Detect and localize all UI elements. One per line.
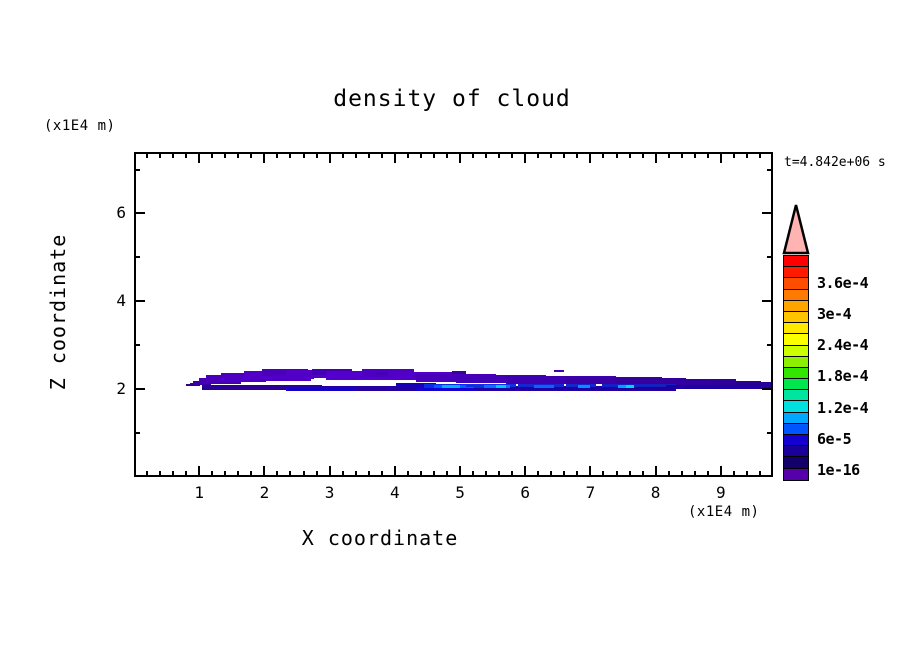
x-major-tick <box>655 466 657 477</box>
colorbar-arrow-cap <box>781 203 811 255</box>
x-tick-label: 5 <box>440 483 480 502</box>
cloud-filament <box>286 388 356 391</box>
x-major-tick <box>720 466 722 477</box>
y-minor-tick-right <box>767 344 773 346</box>
x-minor-tick-top <box>342 152 344 158</box>
x-minor-tick-top <box>759 152 761 158</box>
x-tick-label: 1 <box>179 483 219 502</box>
y-minor-tick-right <box>767 432 773 434</box>
x-minor-tick-top <box>746 152 748 158</box>
x-minor-tick-top <box>642 152 644 158</box>
x-axis-unit-label: (x1E4 m) <box>688 504 759 520</box>
x-tick-label: 9 <box>701 483 741 502</box>
cloud-filament <box>442 385 460 388</box>
x-minor-tick-top <box>303 152 305 158</box>
x-major-tick-top <box>198 152 200 163</box>
x-minor-tick-top <box>159 152 161 158</box>
colorbar-band <box>784 357 808 368</box>
colorbar-tick-label: 2.4e-4 <box>817 336 868 354</box>
cloud-filament <box>496 385 506 388</box>
x-minor-tick-top <box>602 152 604 158</box>
colorbar-band <box>784 256 808 267</box>
x-minor-tick-top <box>237 152 239 158</box>
time-annotation: t=4.842e+06 s <box>784 155 886 170</box>
x-minor-tick-top <box>185 152 187 158</box>
colorbar-bands <box>783 255 809 481</box>
y-minor-tick <box>134 344 140 346</box>
cloud-filament <box>416 388 476 391</box>
x-major-tick <box>459 466 461 477</box>
x-minor-tick-top <box>250 152 252 158</box>
x-major-tick-top <box>720 152 722 163</box>
x-minor-tick-top <box>668 152 670 158</box>
cloud-filament <box>578 385 590 388</box>
x-minor-tick <box>563 471 565 477</box>
colorbar-band <box>784 424 808 435</box>
x-minor-tick <box>485 471 487 477</box>
x-minor-tick-top <box>511 152 513 158</box>
x-minor-tick <box>446 471 448 477</box>
x-major-tick <box>589 466 591 477</box>
colorbar: 3.6e-43e-42.4e-41.8e-41.2e-46e-51e-16 <box>781 203 811 481</box>
colorbar-tick-label: 3e-4 <box>817 305 851 323</box>
x-minor-tick <box>759 471 761 477</box>
y-tick-label: 4 <box>86 291 126 310</box>
x-tick-label: 3 <box>310 483 350 502</box>
x-minor-tick <box>537 471 539 477</box>
x-tick-label: 4 <box>375 483 415 502</box>
x-tick-label: 2 <box>244 483 284 502</box>
x-minor-tick <box>250 471 252 477</box>
colorbar-band <box>784 413 808 424</box>
x-tick-label: 8 <box>636 483 676 502</box>
x-minor-tick <box>733 471 735 477</box>
colorbar-band <box>784 368 808 379</box>
colorbar-tick-label: 3.6e-4 <box>817 274 868 292</box>
x-minor-tick <box>407 471 409 477</box>
colorbar-band <box>784 435 808 446</box>
cloud-filament <box>761 383 771 387</box>
x-minor-tick-top <box>616 152 618 158</box>
x-minor-tick <box>746 471 748 477</box>
x-minor-tick-top <box>629 152 631 158</box>
colorbar-band <box>784 290 808 301</box>
page-title: density of cloud <box>0 86 904 112</box>
x-major-tick-top <box>589 152 591 163</box>
x-minor-tick <box>368 471 370 477</box>
y-minor-tick-right <box>767 256 773 258</box>
x-minor-tick <box>629 471 631 477</box>
x-tick-label: 6 <box>505 483 545 502</box>
colorbar-band <box>784 312 808 323</box>
x-minor-tick <box>642 471 644 477</box>
y-major-tick-right <box>762 212 773 214</box>
y-major-tick-right <box>762 300 773 302</box>
x-minor-tick-top <box>446 152 448 158</box>
x-minor-tick <box>185 471 187 477</box>
x-minor-tick <box>289 471 291 477</box>
x-minor-tick <box>211 471 213 477</box>
y-minor-tick <box>134 169 140 171</box>
x-minor-tick <box>172 471 174 477</box>
y-tick-label: 2 <box>86 379 126 398</box>
cloud-filament <box>554 370 564 372</box>
x-minor-tick <box>433 471 435 477</box>
x-major-tick-top <box>524 152 526 163</box>
x-minor-tick-top <box>537 152 539 158</box>
cloud-filament <box>534 385 554 388</box>
x-minor-tick-top <box>146 152 148 158</box>
x-minor-tick-top <box>381 152 383 158</box>
x-minor-tick-top <box>289 152 291 158</box>
x-minor-tick-top <box>276 152 278 158</box>
x-minor-tick-top <box>576 152 578 158</box>
x-minor-tick <box>355 471 357 477</box>
x-minor-tick <box>550 471 552 477</box>
x-major-tick-top <box>329 152 331 163</box>
colorbar-band <box>784 301 808 312</box>
colorbar-tick-label: 1.8e-4 <box>817 367 868 385</box>
x-minor-tick-top <box>211 152 213 158</box>
x-major-tick <box>524 466 526 477</box>
y-major-tick <box>134 388 145 390</box>
colorbar-band <box>784 267 808 278</box>
y-major-tick-right <box>762 388 773 390</box>
y-major-tick <box>134 212 145 214</box>
x-minor-tick <box>472 471 474 477</box>
plot-canvas <box>136 154 771 475</box>
x-minor-tick-top <box>485 152 487 158</box>
x-minor-tick <box>602 471 604 477</box>
x-minor-tick <box>681 471 683 477</box>
x-minor-tick <box>707 471 709 477</box>
x-minor-tick <box>576 471 578 477</box>
x-minor-tick-top <box>498 152 500 158</box>
x-minor-tick-top <box>433 152 435 158</box>
x-major-tick-top <box>263 152 265 163</box>
x-tick-label: 7 <box>570 483 610 502</box>
colorbar-band <box>784 469 808 480</box>
x-minor-tick-top <box>733 152 735 158</box>
colorbar-band <box>784 379 808 390</box>
x-minor-tick <box>224 471 226 477</box>
x-minor-tick <box>381 471 383 477</box>
x-major-tick <box>198 466 200 477</box>
cloud-filament <box>376 372 388 375</box>
x-minor-tick-top <box>707 152 709 158</box>
x-major-tick <box>394 466 396 477</box>
x-minor-tick <box>276 471 278 477</box>
x-minor-tick <box>159 471 161 477</box>
x-minor-tick <box>146 471 148 477</box>
x-minor-tick <box>668 471 670 477</box>
x-minor-tick <box>616 471 618 477</box>
colorbar-tick-label: 1e-16 <box>817 461 860 479</box>
y-axis-unit-label: (x1E4 m) <box>44 118 115 134</box>
colorbar-band <box>784 323 808 334</box>
x-minor-tick <box>420 471 422 477</box>
colorbar-band <box>784 346 808 357</box>
x-minor-tick-top <box>420 152 422 158</box>
colorbar-band <box>784 446 808 457</box>
x-minor-tick <box>237 471 239 477</box>
colorbar-band <box>784 390 808 401</box>
y-minor-tick <box>134 432 140 434</box>
cloud-filament <box>626 385 634 388</box>
y-major-tick <box>134 300 145 302</box>
x-major-tick-top <box>655 152 657 163</box>
cloud-filament <box>186 384 194 386</box>
x-major-tick <box>263 466 265 477</box>
x-major-tick <box>329 466 331 477</box>
x-minor-tick-top <box>407 152 409 158</box>
y-axis-title: Z coordinate <box>46 232 70 392</box>
x-minor-tick <box>316 471 318 477</box>
y-minor-tick-right <box>767 169 773 171</box>
colorbar-tick-label: 1.2e-4 <box>817 399 868 417</box>
x-minor-tick-top <box>563 152 565 158</box>
x-minor-tick <box>303 471 305 477</box>
x-minor-tick-top <box>694 152 696 158</box>
x-minor-tick-top <box>355 152 357 158</box>
x-minor-tick-top <box>368 152 370 158</box>
x-minor-tick <box>342 471 344 477</box>
x-minor-tick-top <box>550 152 552 158</box>
x-minor-tick-top <box>681 152 683 158</box>
x-minor-tick-top <box>316 152 318 158</box>
y-minor-tick <box>134 256 140 258</box>
cloud-filament <box>452 371 466 374</box>
x-axis-title: X coordinate <box>0 526 760 550</box>
x-major-tick-top <box>394 152 396 163</box>
colorbar-band <box>784 278 808 289</box>
x-minor-tick-top <box>172 152 174 158</box>
x-major-tick-top <box>459 152 461 163</box>
cloud-filament <box>666 385 771 389</box>
x-minor-tick <box>694 471 696 477</box>
colorbar-band <box>784 457 808 468</box>
x-minor-tick-top <box>472 152 474 158</box>
colorbar-band <box>784 334 808 345</box>
x-minor-tick <box>498 471 500 477</box>
colorbar-band <box>784 401 808 412</box>
y-tick-label: 6 <box>86 203 126 222</box>
x-minor-tick <box>511 471 513 477</box>
x-minor-tick-top <box>224 152 226 158</box>
colorbar-tick-label: 6e-5 <box>817 430 851 448</box>
